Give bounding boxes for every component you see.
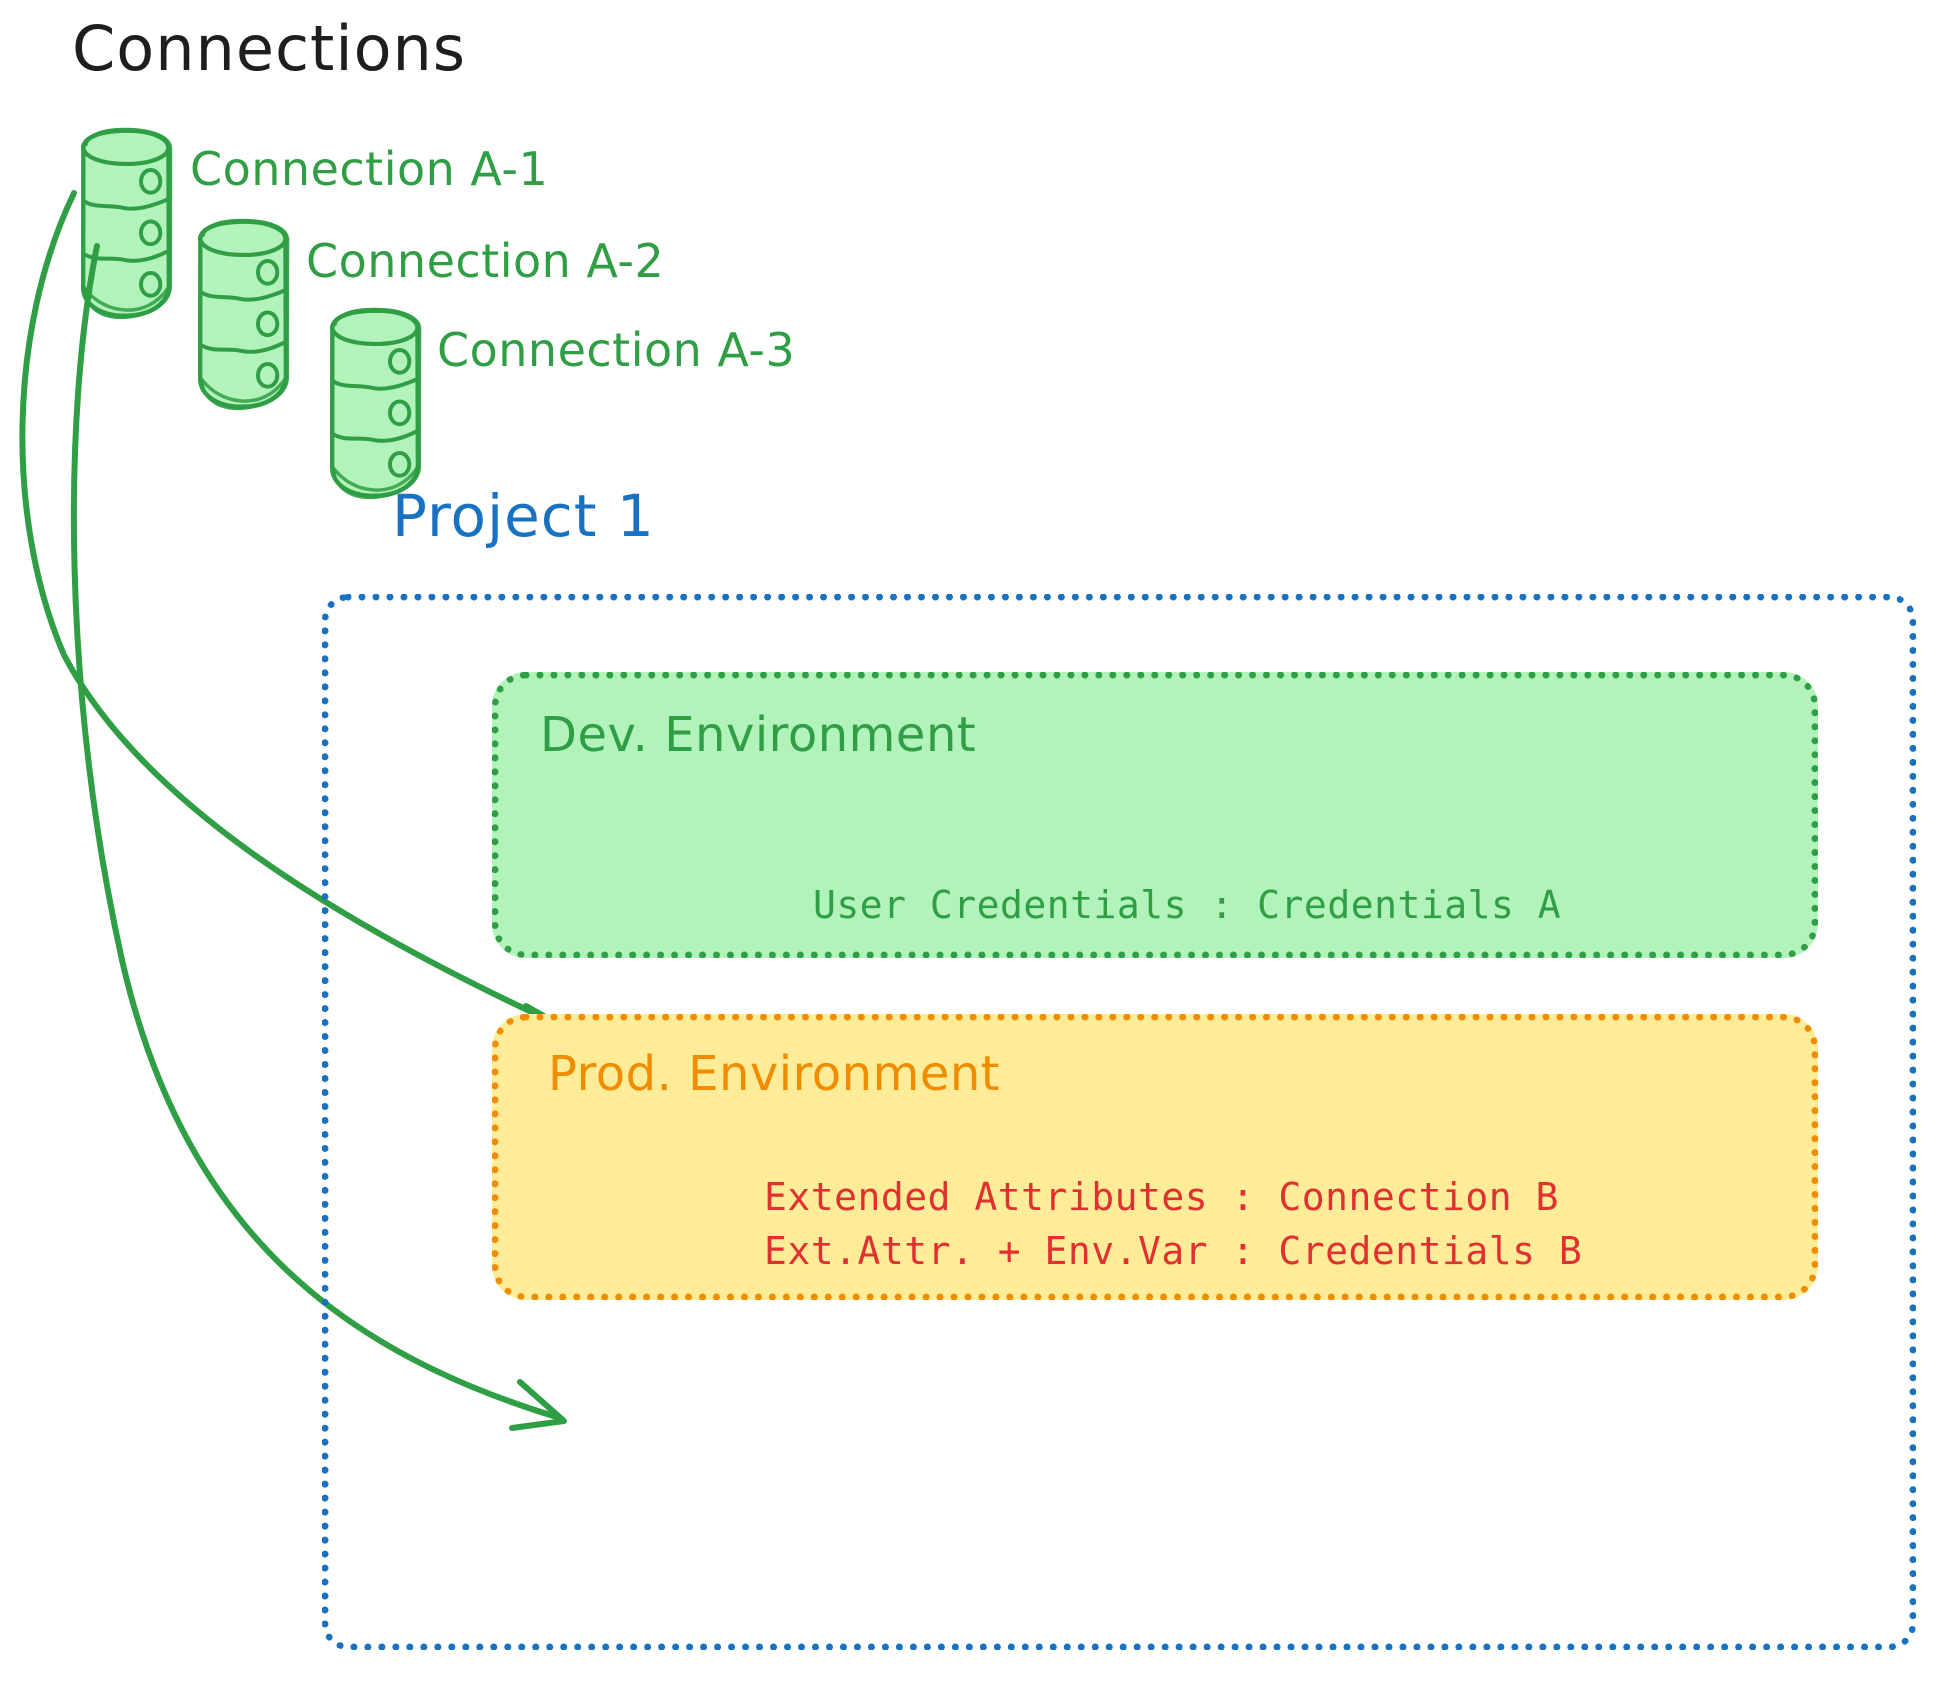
- connection-label-a1: Connection A-1: [190, 142, 548, 196]
- page-title: Connections: [72, 12, 466, 85]
- prod-environment-title: Prod. Environment: [548, 1046, 1000, 1102]
- prod-environment-box: Prod. Environment Extended Attributes : …: [492, 1014, 1818, 1300]
- connection-label-a2: Connection A-2: [306, 234, 664, 288]
- connection-label-a3: Connection A-3: [437, 323, 795, 377]
- dev-environment-title: Dev. Environment: [540, 707, 976, 763]
- database-icon-connection-a2: [199, 220, 288, 408]
- prod-credentials-line: Ext.Attr. + Env.Var : Credentials B: [764, 1225, 1582, 1279]
- dev-credentials-line: User Credentials : Credentials A: [813, 883, 1561, 927]
- diagram-canvas: Connections Connection A-1 Connection A-…: [0, 0, 1938, 1691]
- project-title: Project 1: [392, 482, 655, 550]
- database-icon-connection-a1: [82, 129, 171, 317]
- prod-attributes-line: Extended Attributes : Connection B: [764, 1171, 1559, 1225]
- dev-environment-box: Dev. Environment User Credentials : Cred…: [492, 672, 1818, 958]
- database-icon-connection-a3: [331, 309, 420, 497]
